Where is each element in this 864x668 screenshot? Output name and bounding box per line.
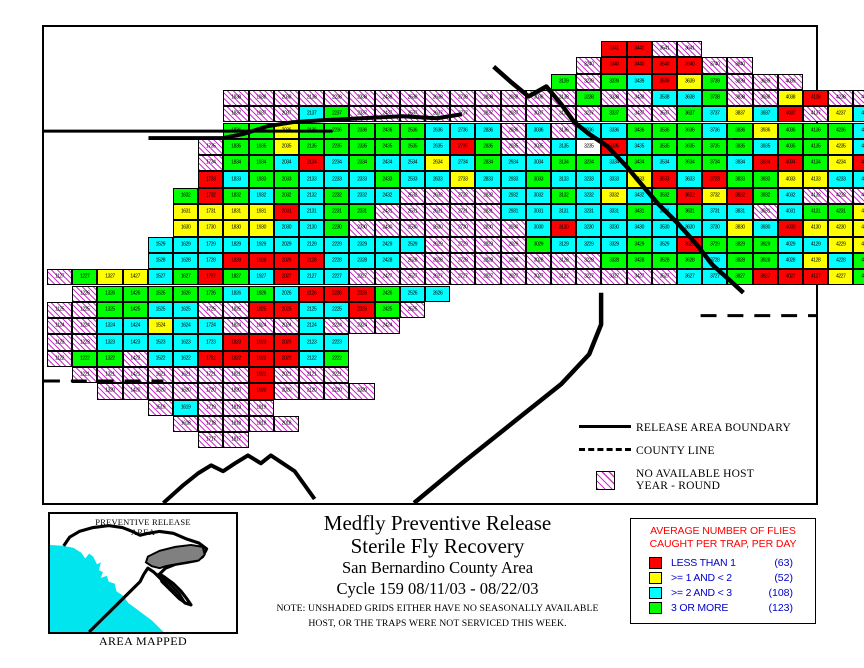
grid-cell[interactable]: 2833 <box>475 171 500 187</box>
grid-cell[interactable]: 2525 <box>400 302 425 318</box>
grid-cell[interactable]: 3035 <box>526 139 551 155</box>
grid-cell[interactable]: 2226 <box>324 286 349 302</box>
grid-cell[interactable]: 3434 <box>627 155 652 171</box>
grid-cell[interactable]: 3535 <box>652 139 677 155</box>
grid-cell[interactable]: 1619 <box>173 400 198 416</box>
grid-cell[interactable]: 1421 <box>123 367 148 383</box>
grid-cell[interactable]: 4332 <box>853 188 864 204</box>
grid-cell[interactable]: 2124 <box>299 318 324 334</box>
grid-cell[interactable]: 2037 <box>274 106 299 122</box>
grid-cell[interactable]: 4228 <box>828 253 853 269</box>
grid-cell[interactable]: 4331 <box>853 204 864 220</box>
grid-cell[interactable]: 2122 <box>299 351 324 367</box>
grid-cell[interactable]: 2320 <box>349 383 374 399</box>
grid-cell[interactable]: 3629 <box>677 237 702 253</box>
grid-cell[interactable]: 2434 <box>375 155 400 171</box>
grid-cell[interactable]: 3230 <box>576 220 601 236</box>
grid-cell[interactable]: 2836 <box>475 123 500 139</box>
grid-cell[interactable]: 3036 <box>526 123 551 139</box>
grid-cell[interactable]: 4328 <box>853 253 864 269</box>
grid-cell[interactable]: 3939 <box>753 74 778 90</box>
grid-cell[interactable]: 3328 <box>601 253 626 269</box>
grid-cell[interactable]: 2024 <box>274 318 299 334</box>
grid-cell[interactable]: 2927 <box>501 269 526 285</box>
grid-cell[interactable]: 3635 <box>677 139 702 155</box>
grid-cell[interactable]: 3038 <box>526 90 551 106</box>
grid-cell[interactable]: 1519 <box>148 400 173 416</box>
grid-cell[interactable]: 1717 <box>198 432 223 448</box>
grid-cell[interactable]: 1838 <box>223 90 248 106</box>
grid-cell[interactable]: 3936 <box>753 123 778 139</box>
grid-cell[interactable]: 2934 <box>501 155 526 171</box>
grid-cell[interactable]: 3131 <box>551 204 576 220</box>
grid-cell[interactable]: 3732 <box>702 188 727 204</box>
grid-cell[interactable]: 2338 <box>349 90 374 106</box>
grid-cell[interactable]: 1227 <box>72 269 97 285</box>
grid-cell[interactable]: 3238 <box>576 90 601 106</box>
grid-cell[interactable]: 2628 <box>425 253 450 269</box>
grid-cell[interactable]: 1720 <box>198 383 223 399</box>
grid-cell[interactable]: 1426 <box>123 286 148 302</box>
grid-cell[interactable]: 3229 <box>576 237 601 253</box>
grid-cell[interactable]: 2428 <box>375 253 400 269</box>
grid-cell[interactable]: 3834 <box>727 155 752 171</box>
grid-cell[interactable]: 3235 <box>576 139 601 155</box>
grid-cell[interactable]: 2535 <box>400 139 425 155</box>
grid-cell[interactable]: 1327 <box>97 269 122 285</box>
grid-cell[interactable]: 3528 <box>652 253 677 269</box>
grid-cell[interactable]: 3336 <box>601 123 626 139</box>
grid-cell[interactable]: 3827 <box>727 269 752 285</box>
grid-cell[interactable]: 2029 <box>274 237 299 253</box>
grid-cell[interactable]: 3636 <box>677 123 702 139</box>
grid-cell[interactable]: 1929 <box>249 237 274 253</box>
grid-cell[interactable]: 4135 <box>803 139 828 155</box>
grid-cell[interactable]: 4127 <box>803 269 828 285</box>
grid-cell[interactable]: 3138 <box>551 90 576 106</box>
grid-cell[interactable]: 1624 <box>173 318 198 334</box>
grid-cell[interactable]: 1618 <box>173 416 198 432</box>
grid-cell[interactable]: 4235 <box>828 139 853 155</box>
grid-cell[interactable]: 2126 <box>299 286 324 302</box>
grid-cell[interactable]: 3435 <box>627 139 652 155</box>
grid-cell[interactable]: 2332 <box>349 188 374 204</box>
grid-cell[interactable]: 1520 <box>148 383 173 399</box>
grid-cell[interactable]: 3332 <box>601 188 626 204</box>
grid-cell[interactable]: 3527 <box>652 269 677 285</box>
grid-cell[interactable]: 3736 <box>702 123 727 139</box>
grid-cell[interactable]: 2435 <box>375 139 400 155</box>
grid-cell[interactable]: 2928 <box>501 253 526 269</box>
grid-cell[interactable]: 1921 <box>249 367 274 383</box>
grid-cell[interactable]: 1728 <box>198 253 223 269</box>
grid-cell[interactable]: 3127 <box>551 269 576 285</box>
grid-cell[interactable]: 2427 <box>375 269 400 285</box>
grid-cell[interactable]: 2829 <box>475 237 500 253</box>
grid-cell[interactable]: 3630 <box>677 220 702 236</box>
grid-cell[interactable]: 1823 <box>223 334 248 350</box>
grid-cell[interactable]: 1926 <box>249 286 274 302</box>
grid-cell[interactable]: 1427 <box>123 269 148 285</box>
grid-cell[interactable]: 1125 <box>47 302 72 318</box>
grid-cell[interactable]: 3933 <box>753 171 778 187</box>
grid-cell[interactable]: 1922 <box>249 351 274 367</box>
grid-cell[interactable]: 1522 <box>148 351 173 367</box>
grid-cell[interactable]: 3028 <box>526 253 551 269</box>
grid-cell[interactable]: 1825 <box>223 302 248 318</box>
grid-cell[interactable]: 1122 <box>47 351 72 367</box>
grid-cell[interactable]: 4230 <box>828 220 853 236</box>
grid-cell[interactable]: 2234 <box>324 155 349 171</box>
grid-cell[interactable]: 3835 <box>727 139 752 155</box>
grid-cell[interactable]: 3034 <box>526 155 551 171</box>
grid-cell[interactable]: 2437 <box>375 106 400 122</box>
grid-cell[interactable]: 3130 <box>551 220 576 236</box>
grid-cell[interactable]: 1521 <box>148 367 173 383</box>
grid-cell[interactable]: 3240 <box>576 57 601 73</box>
grid-cell[interactable]: 1729 <box>198 237 223 253</box>
grid-cell[interactable]: 2233 <box>324 171 349 187</box>
grid-cell[interactable]: 3641 <box>677 41 702 57</box>
grid-cell[interactable]: 4027 <box>778 269 803 285</box>
grid-cell[interactable]: 3735 <box>702 139 727 155</box>
grid-cell[interactable]: 3233 <box>576 171 601 187</box>
grid-cell[interactable]: 2424 <box>375 318 400 334</box>
grid-cell[interactable]: 2938 <box>501 90 526 106</box>
grid-cell[interactable]: 1627 <box>173 269 198 285</box>
grid-cell[interactable]: 2131 <box>299 204 324 220</box>
grid-cell[interactable]: 3730 <box>702 220 727 236</box>
grid-cell[interactable]: 1127 <box>47 269 72 285</box>
grid-cell[interactable]: 2223 <box>324 334 349 350</box>
grid-cell[interactable]: 2634 <box>425 155 450 171</box>
grid-cell[interactable]: 3441 <box>627 41 652 57</box>
grid-cell[interactable]: 3429 <box>627 237 652 253</box>
grid-cell[interactable]: 3327 <box>601 269 626 285</box>
grid-cell[interactable]: 2328 <box>349 253 374 269</box>
grid-cell[interactable]: 3134 <box>551 155 576 171</box>
grid-cell[interactable]: 2132 <box>299 188 324 204</box>
grid-cell[interactable]: 2728 <box>450 253 475 269</box>
grid-cell[interactable]: 1420 <box>123 383 148 399</box>
grid-cell[interactable]: 1919 <box>249 400 274 416</box>
grid-cell[interactable]: 1824 <box>223 318 248 334</box>
grid-cell[interactable]: 2929 <box>501 237 526 253</box>
grid-cell[interactable]: 1827 <box>223 269 248 285</box>
grid-cell[interactable]: 1924 <box>249 318 274 334</box>
grid-cell[interactable]: 3440 <box>627 57 652 73</box>
grid-cell[interactable]: 3340 <box>601 57 626 73</box>
grid-cell[interactable]: 3541 <box>652 41 677 57</box>
grid-cell[interactable]: 4237 <box>828 106 853 122</box>
grid-cell[interactable]: 1718 <box>198 416 223 432</box>
grid-cell[interactable]: 3228 <box>576 253 601 269</box>
grid-cell[interactable]: 1722 <box>198 351 223 367</box>
grid-cell[interactable]: 2227 <box>324 269 349 285</box>
grid-cell[interactable]: 1322 <box>97 351 122 367</box>
grid-cell[interactable]: 2018 <box>274 416 299 432</box>
grid-cell[interactable]: 3638 <box>677 90 702 106</box>
grid-cell[interactable]: 3537 <box>652 106 677 122</box>
grid-cell[interactable]: 1835 <box>223 139 248 155</box>
grid-cell[interactable]: 2237 <box>324 106 349 122</box>
grid-cell[interactable]: 2134 <box>299 155 324 171</box>
grid-cell[interactable]: 3530 <box>652 220 677 236</box>
grid-cell[interactable]: 1935 <box>249 139 274 155</box>
grid-cell[interactable]: 1923 <box>249 334 274 350</box>
grid-cell[interactable]: 1937 <box>249 106 274 122</box>
grid-cell[interactable]: 2136 <box>299 123 324 139</box>
grid-cell[interactable]: 3333 <box>601 171 626 187</box>
grid-cell[interactable]: 4030 <box>778 220 803 236</box>
grid-cell[interactable]: 2330 <box>349 220 374 236</box>
grid-cell[interactable]: 2533 <box>400 171 425 187</box>
grid-cell[interactable]: 2730 <box>450 220 475 236</box>
grid-cell[interactable]: 2236 <box>324 123 349 139</box>
grid-cell[interactable]: 3139 <box>551 74 576 90</box>
grid-cell[interactable]: 1123 <box>47 334 72 350</box>
grid-cell[interactable]: 3538 <box>652 90 677 106</box>
grid-cell[interactable]: 4238 <box>828 90 853 106</box>
grid-cell[interactable]: 4035 <box>778 139 803 155</box>
grid-cell[interactable]: 2229 <box>324 237 349 253</box>
grid-cell[interactable]: 4034 <box>778 155 803 171</box>
grid-cell[interactable]: 2638 <box>425 90 450 106</box>
grid-cell[interactable]: 4336 <box>853 123 864 139</box>
grid-cell[interactable]: 2033 <box>274 171 299 187</box>
grid-cell[interactable]: 2133 <box>299 171 324 187</box>
grid-cell[interactable]: 3631 <box>677 204 702 220</box>
grid-cell[interactable]: 3929 <box>753 237 778 253</box>
grid-cell[interactable]: 2529 <box>400 237 425 253</box>
grid-cell[interactable]: 1918 <box>249 416 274 432</box>
grid-cell[interactable]: 3033 <box>526 171 551 187</box>
grid-cell[interactable]: 2426 <box>375 286 400 302</box>
grid-cell[interactable]: 2438 <box>375 90 400 106</box>
grid-cell[interactable]: 4130 <box>803 220 828 236</box>
grid-cell[interactable]: 1625 <box>173 302 198 318</box>
grid-cell[interactable]: 3428 <box>627 253 652 269</box>
grid-cell[interactable]: 3840 <box>727 57 752 73</box>
grid-cell[interactable]: 1936 <box>249 123 274 139</box>
grid-cell[interactable]: 2329 <box>349 237 374 253</box>
grid-cell[interactable]: 2632 <box>425 188 450 204</box>
grid-cell[interactable]: 2736 <box>450 123 475 139</box>
grid-cell[interactable]: 3828 <box>727 253 752 269</box>
grid-cell[interactable]: 4037 <box>778 106 803 122</box>
grid-cell[interactable]: 1730 <box>198 220 223 236</box>
grid-cell[interactable]: 2425 <box>375 302 400 318</box>
grid-cell[interactable]: 2138 <box>299 90 324 106</box>
grid-cell[interactable]: 4233 <box>828 171 853 187</box>
grid-cell[interactable]: 4327 <box>853 269 864 285</box>
grid-cell[interactable]: 1222 <box>72 351 97 367</box>
grid-cell[interactable]: 3330 <box>601 220 626 236</box>
grid-cell[interactable]: 3339 <box>601 74 626 90</box>
grid-cell[interactable]: 2326 <box>349 286 374 302</box>
grid-cell[interactable]: 1831 <box>223 204 248 220</box>
grid-cell[interactable]: 2334 <box>349 155 374 171</box>
grid-cell[interactable]: 2027 <box>274 269 299 285</box>
grid-cell[interactable]: 3937 <box>753 106 778 122</box>
grid-cell[interactable]: 4032 <box>778 188 803 204</box>
grid-cell[interactable]: 2528 <box>400 253 425 269</box>
grid-cell[interactable]: 3634 <box>677 155 702 171</box>
grid-cell[interactable]: 1830 <box>223 220 248 236</box>
grid-cell[interactable]: 2830 <box>475 220 500 236</box>
grid-cell[interactable]: 4334 <box>853 155 864 171</box>
grid-cell[interactable]: 1630 <box>173 220 198 236</box>
grid-cell[interactable]: 1622 <box>173 351 198 367</box>
grid-cell[interactable]: 4138 <box>803 90 828 106</box>
grid-cell[interactable]: 3738 <box>702 90 727 106</box>
grid-cell[interactable]: 2224 <box>324 318 349 334</box>
grid-cell[interactable]: 2531 <box>400 204 425 220</box>
grid-cell[interactable]: 3833 <box>727 171 752 187</box>
grid-cell[interactable]: 3027 <box>526 269 551 285</box>
grid-cell[interactable]: 2025 <box>274 302 299 318</box>
grid-cell[interactable]: 3032 <box>526 188 551 204</box>
grid-cell[interactable]: 3437 <box>627 106 652 122</box>
grid-cell[interactable]: 1818 <box>223 416 248 432</box>
grid-cell[interactable]: 1828 <box>223 253 248 269</box>
grid-cell[interactable]: 4038 <box>778 90 803 106</box>
grid-cell[interactable]: 3231 <box>576 204 601 220</box>
grid-cell[interactable]: 3533 <box>652 171 677 187</box>
grid-cell[interactable]: 1920 <box>249 383 274 399</box>
grid-cell[interactable]: 4234 <box>828 155 853 171</box>
grid-cell[interactable]: 3433 <box>627 171 652 187</box>
grid-cell[interactable]: 2636 <box>425 123 450 139</box>
grid-cell[interactable]: 2933 <box>501 171 526 187</box>
grid-cell[interactable]: 3338 <box>601 90 626 106</box>
grid-cell[interactable]: 1424 <box>123 318 148 334</box>
grid-cell[interactable]: 2635 <box>425 139 450 155</box>
grid-cell[interactable]: 3341 <box>601 41 626 57</box>
grid-cell[interactable]: 2532 <box>400 188 425 204</box>
grid-cell[interactable]: 1223 <box>72 334 97 350</box>
grid-cell[interactable]: 1933 <box>249 171 274 187</box>
grid-cell[interactable]: 3439 <box>627 74 652 90</box>
grid-cell[interactable]: 3427 <box>627 269 652 285</box>
grid-cell[interactable]: 3232 <box>576 188 601 204</box>
grid-cell[interactable]: 1837 <box>223 106 248 122</box>
grid-cell[interactable]: 2828 <box>475 253 500 269</box>
grid-cell[interactable]: 2125 <box>299 302 324 318</box>
grid-cell[interactable]: 2431 <box>375 204 400 220</box>
grid-cell[interactable]: 1726 <box>198 286 223 302</box>
grid-cell[interactable]: 4031 <box>778 204 803 220</box>
grid-cell[interactable]: 3430 <box>627 220 652 236</box>
grid-cell[interactable]: 3237 <box>576 106 601 122</box>
grid-cell[interactable]: 2931 <box>501 204 526 220</box>
grid-cell[interactable]: 1631 <box>173 204 198 220</box>
grid-cell[interactable]: 3632 <box>677 188 702 204</box>
grid-cell[interactable]: 4028 <box>778 253 803 269</box>
grid-cell[interactable]: 2935 <box>501 139 526 155</box>
grid-cell[interactable]: 1621 <box>173 367 198 383</box>
grid-cell[interactable]: 3931 <box>753 204 778 220</box>
grid-cell[interactable]: 1731 <box>198 204 223 220</box>
grid-cell[interactable]: 2936 <box>501 123 526 139</box>
grid-cell[interactable]: 1721 <box>198 367 223 383</box>
grid-cell[interactable]: 4036 <box>778 123 803 139</box>
grid-cell[interactable]: 3829 <box>727 237 752 253</box>
grid-cell[interactable]: 1826 <box>223 286 248 302</box>
grid-cell[interactable]: 4132 <box>803 188 828 204</box>
grid-cell[interactable]: 2023 <box>274 334 299 350</box>
grid-cell[interactable]: 3739 <box>702 74 727 90</box>
grid-cell[interactable]: 1226 <box>72 286 97 302</box>
grid-cell[interactable]: 1124 <box>47 318 72 334</box>
grid-cell[interactable]: 3236 <box>576 123 601 139</box>
grid-cell[interactable]: 1324 <box>97 318 122 334</box>
grid-cell[interactable]: 1623 <box>173 334 198 350</box>
grid-cell[interactable]: 2937 <box>501 106 526 122</box>
grid-cell[interactable]: 2626 <box>425 286 450 302</box>
grid-cell[interactable]: 2137 <box>299 106 324 122</box>
grid-cell[interactable]: 2028 <box>274 253 299 269</box>
grid-cell[interactable]: 4337 <box>853 106 864 122</box>
grid-cell[interactable]: 2238 <box>324 90 349 106</box>
grid-cell[interactable]: 2034 <box>274 155 299 171</box>
grid-cell[interactable]: 2834 <box>475 155 500 171</box>
grid-cell[interactable]: 2534 <box>400 155 425 171</box>
grid-cell[interactable]: 1526 <box>148 286 173 302</box>
grid-cell[interactable]: 4029 <box>778 237 803 253</box>
grid-cell[interactable]: 1836 <box>223 123 248 139</box>
grid-cell[interactable]: 1932 <box>249 188 274 204</box>
grid-cell[interactable]: 2729 <box>450 237 475 253</box>
grid-cell[interactable]: 3836 <box>727 123 752 139</box>
grid-cell[interactable]: 2835 <box>475 139 500 155</box>
grid-cell[interactable]: 3239 <box>576 74 601 90</box>
grid-cell[interactable]: 3740 <box>702 57 727 73</box>
grid-cell[interactable]: 3128 <box>551 253 576 269</box>
grid-cell[interactable]: 4137 <box>803 106 828 122</box>
grid-cell[interactable]: 1734 <box>198 155 223 171</box>
grid-cell[interactable]: 1732 <box>198 188 223 204</box>
grid-cell[interactable]: 3935 <box>753 139 778 155</box>
grid-cell[interactable]: 2831 <box>475 204 500 220</box>
grid-cell[interactable]: 1525 <box>148 302 173 318</box>
grid-cell[interactable]: 1423 <box>123 334 148 350</box>
grid-cell[interactable]: 1527 <box>148 269 173 285</box>
grid-cell[interactable]: 1819 <box>223 400 248 416</box>
grid-cell[interactable]: 1620 <box>173 383 198 399</box>
grid-cell[interactable]: 4236 <box>828 123 853 139</box>
grid-cell[interactable]: 3227 <box>576 269 601 285</box>
grid-cell[interactable]: 2331 <box>349 204 374 220</box>
grid-cell[interactable]: 3928 <box>753 253 778 269</box>
grid-cell[interactable]: 4335 <box>853 139 864 155</box>
grid-cell[interactable]: 1422 <box>123 351 148 367</box>
grid-cell[interactable]: 1834 <box>223 155 248 171</box>
grid-cell[interactable]: 2930 <box>501 220 526 236</box>
grid-cell[interactable]: 3137 <box>551 106 576 122</box>
grid-cell[interactable]: 2123 <box>299 334 324 350</box>
grid-cell[interactable]: 3334 <box>601 155 626 171</box>
grid-cell[interactable]: 1221 <box>72 367 97 383</box>
grid-cell[interactable]: 1529 <box>148 237 173 253</box>
grid-cell[interactable]: 2031 <box>274 204 299 220</box>
grid-cell[interactable]: 3337 <box>601 106 626 122</box>
grid-cell[interactable]: 2731 <box>450 204 475 220</box>
grid-cell[interactable]: 1725 <box>198 302 223 318</box>
grid-cell[interactable]: 2020 <box>274 383 299 399</box>
grid-cell[interactable]: 1626 <box>173 286 198 302</box>
grid-cell[interactable]: 1833 <box>223 171 248 187</box>
